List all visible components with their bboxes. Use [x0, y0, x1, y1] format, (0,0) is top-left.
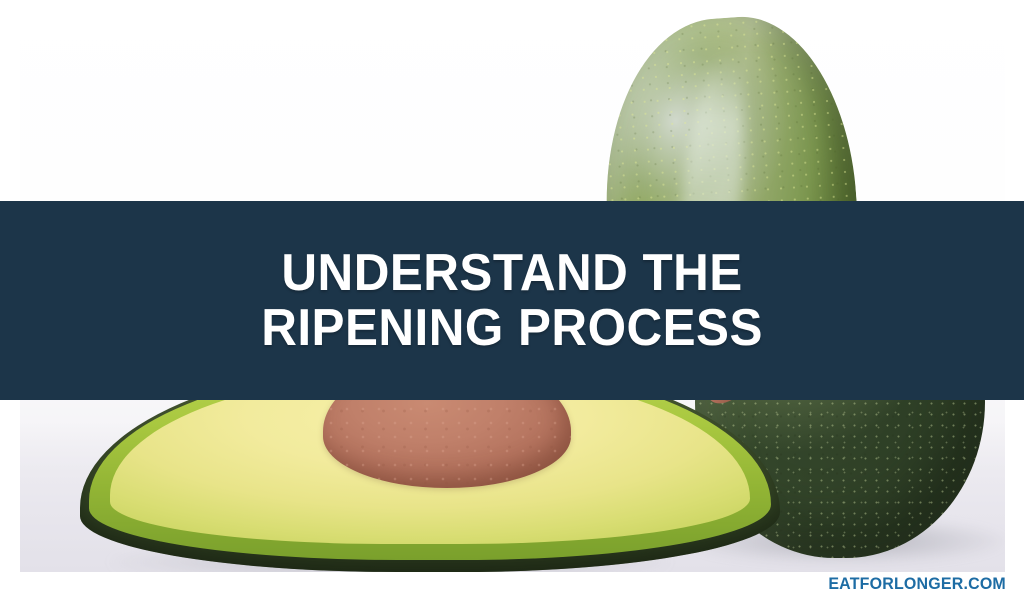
- title-banner: UNDERSTAND THE RIPENING PROCESS: [0, 201, 1024, 400]
- page-title: UNDERSTAND THE RIPENING PROCESS: [261, 246, 763, 354]
- image-canvas: UNDERSTAND THE RIPENING PROCESS EATFORLO…: [0, 0, 1024, 606]
- title-line-1: UNDERSTAND THE: [261, 246, 763, 300]
- title-line-2: RIPENING PROCESS: [261, 301, 763, 355]
- site-watermark: EATFORLONGER.COM: [828, 574, 1006, 594]
